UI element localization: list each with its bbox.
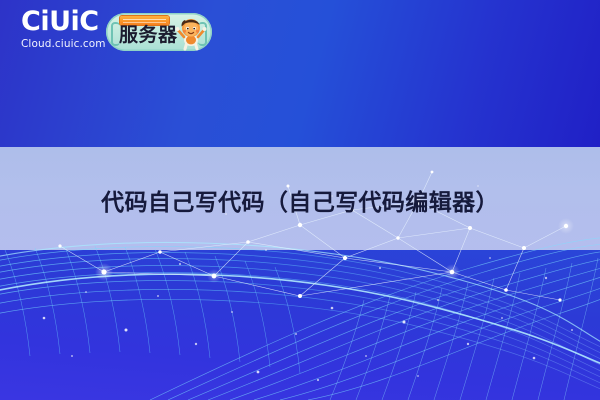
background-band-bottom <box>0 250 600 400</box>
orange-mascot-icon <box>174 15 208 51</box>
promo-banner: CiUiC Cloud.ciuic.com 服务器 <box>0 0 600 400</box>
site-logo[interactable]: CiUiC Cloud.ciuic.com <box>21 8 107 51</box>
badge-label: 服务器 <box>119 24 178 46</box>
logo-domain: Cloud.ciuic.com <box>21 37 107 51</box>
server-badge: 服务器 <box>106 13 212 51</box>
logo-wordmark: CiUiC <box>21 8 107 36</box>
page-title: 代码自己写代码（自己写代码编辑器） <box>0 186 600 220</box>
